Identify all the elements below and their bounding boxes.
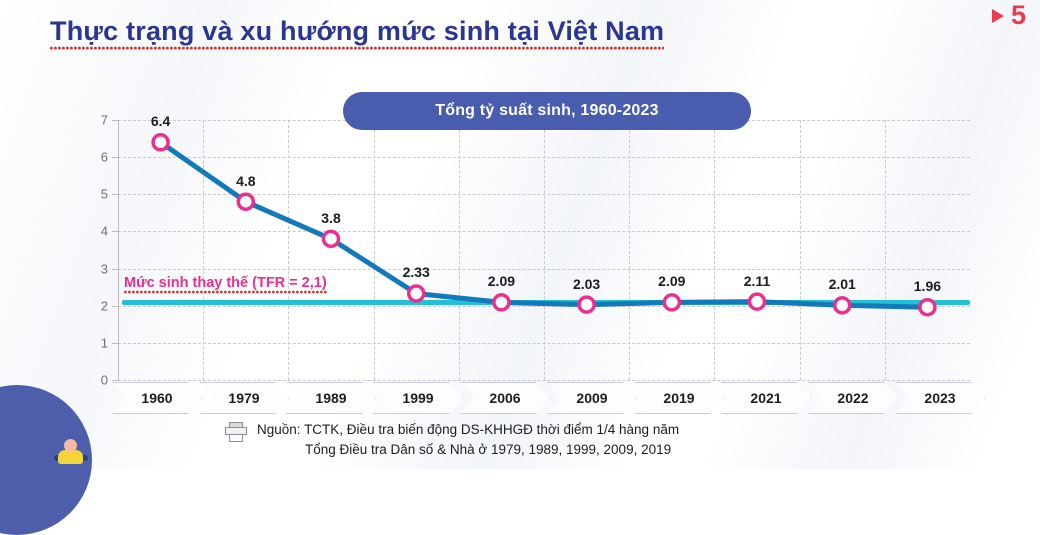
source-line-2: Tổng Điều tra Dân số & Nhà ở 1979, 1989,… xyxy=(305,440,671,460)
y-axis-label: 5 xyxy=(101,187,108,202)
x-axis-category-1979[interactable]: 1979 xyxy=(199,382,289,414)
page-title: Thực trạng và xu hướng mức sinh tại Việt… xyxy=(50,16,664,47)
play-triangle-icon xyxy=(992,9,1004,23)
y-axis-label: 6 xyxy=(101,150,108,165)
y-axis-label: 4 xyxy=(101,224,108,239)
x-axis-category-1989[interactable]: 1989 xyxy=(286,382,376,414)
data-point-label: 2.01 xyxy=(829,276,856,292)
chart-title-banner: Tổng tỷ suất sinh, 1960-2023 xyxy=(343,92,751,130)
x-axis-category-2021[interactable]: 2021 xyxy=(721,382,811,414)
x-axis-category-1999[interactable]: 1999 xyxy=(373,382,463,414)
data-point-label: 3.8 xyxy=(321,210,340,226)
source-note: Nguồn: TCTK, Điều tra biến động DS-KHHGĐ… xyxy=(225,420,679,459)
data-point-marker[interactable] xyxy=(494,295,509,310)
data-point-marker[interactable] xyxy=(835,298,850,313)
data-point-marker[interactable] xyxy=(664,295,679,310)
y-axis-tick xyxy=(112,380,118,381)
data-point-label: 2.09 xyxy=(488,273,515,289)
y-axis-label: 1 xyxy=(101,335,108,350)
plot-area: 01234567 Mức sinh thay thế (TFR = 2,1) 6… xyxy=(118,120,970,380)
data-point-label: 2.33 xyxy=(403,264,430,280)
y-axis-label: 7 xyxy=(101,113,108,128)
page-number: 5 xyxy=(1011,2,1026,29)
decorative-person-figure xyxy=(54,439,88,469)
data-point-label: 2.03 xyxy=(573,276,600,292)
source-text: Nguồn: TCTK, Điều tra biến động DS-KHHGĐ… xyxy=(257,420,679,459)
x-axis-category-1960[interactable]: 1960 xyxy=(112,382,202,414)
data-point-marker[interactable] xyxy=(324,231,339,246)
x-axis-category-2009[interactable]: 2009 xyxy=(547,382,637,414)
x-axis-categories: 1960197919891999200620092019202120222023 xyxy=(112,382,1032,412)
data-point-marker[interactable] xyxy=(153,135,168,150)
data-point-marker[interactable] xyxy=(238,194,253,209)
x-axis-category-2019[interactable]: 2019 xyxy=(634,382,724,414)
y-axis-label: 3 xyxy=(101,261,108,276)
data-point-label: 2.09 xyxy=(658,273,685,289)
gridline-horizontal xyxy=(118,380,970,381)
data-point-label: 4.8 xyxy=(236,173,255,189)
page-title-text: Thực trạng và xu hướng mức sinh tại Việt… xyxy=(50,16,664,50)
data-point-label: 1.96 xyxy=(914,278,941,294)
data-point-label: 6.4 xyxy=(151,113,170,129)
source-label: Nguồn: xyxy=(257,422,301,437)
data-point-marker[interactable] xyxy=(409,286,424,301)
x-axis-category-2006[interactable]: 2006 xyxy=(460,382,550,414)
data-point-marker[interactable] xyxy=(750,294,765,309)
replacement-level-label: Mức sinh thay thế (TFR = 2,1) xyxy=(124,275,327,291)
data-point-label: 2.11 xyxy=(744,273,770,289)
y-axis-label: 0 xyxy=(101,373,108,388)
data-point-marker[interactable] xyxy=(920,300,935,315)
chart-container: Tổng tỷ suất sinh, 1960-2023 01234567 Mứ… xyxy=(0,92,1040,392)
x-axis-category-2023[interactable]: 2023 xyxy=(895,382,985,414)
source-line-1: TCTK, Điều tra biến động DS-KHHGĐ thời đ… xyxy=(304,422,679,437)
data-point-marker[interactable] xyxy=(579,297,594,312)
x-axis-category-2022[interactable]: 2022 xyxy=(808,382,898,414)
y-axis-label: 2 xyxy=(101,298,108,313)
printer-icon xyxy=(225,422,247,442)
page-marker: 5 xyxy=(992,2,1026,29)
fertility-line-series xyxy=(118,120,970,380)
